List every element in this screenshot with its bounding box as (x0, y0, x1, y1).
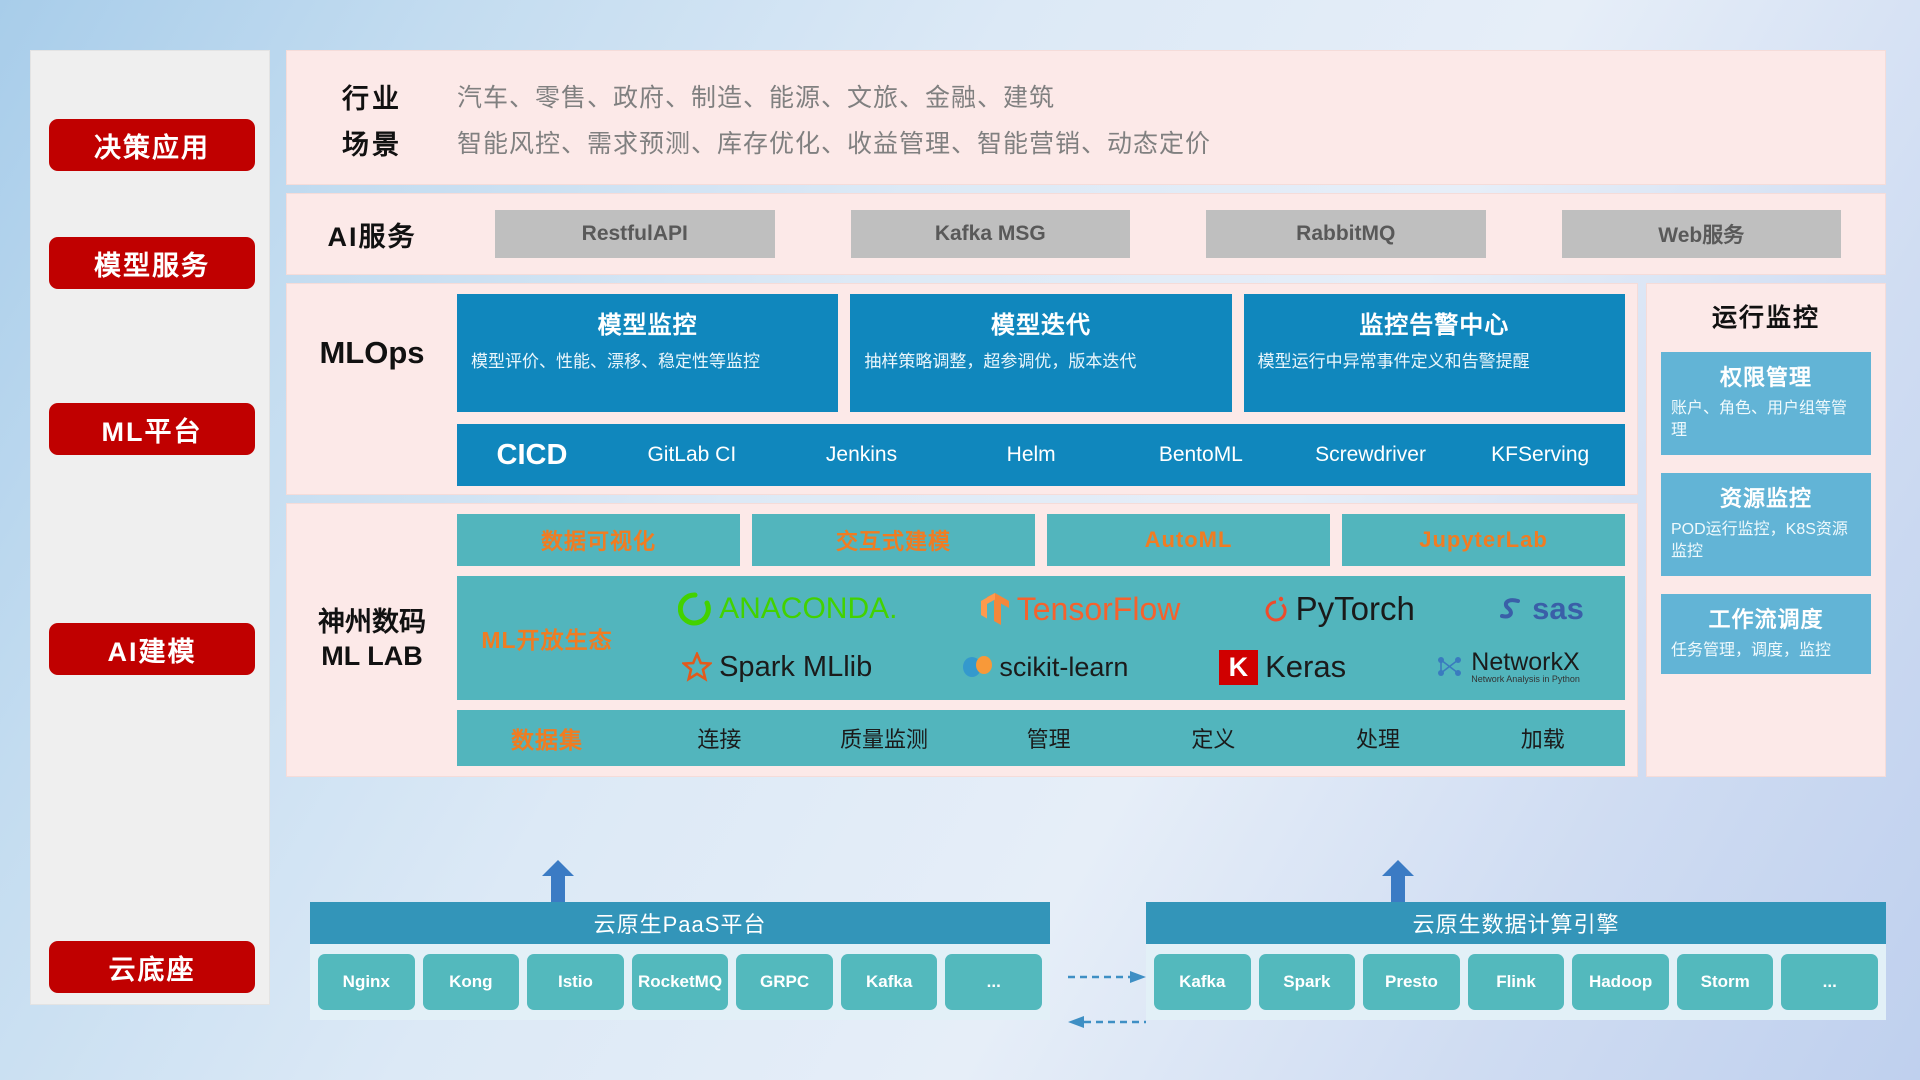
tensorflow-logo: TensorFlow (980, 591, 1181, 628)
rail-chip-decision-app[interactable]: 决策应用 (49, 119, 255, 171)
cicd-item-kfserving[interactable]: KFServing (1455, 444, 1625, 466)
ml-ecosystem-logo-row-2: Spark MLlib scikit-learn (637, 640, 1625, 694)
cloud-paas-chip-list: Nginx Kong Istio RocketMQ GRPC Kafka ... (310, 944, 1050, 1020)
mlops-card-model-monitoring[interactable]: 模型监控 模型评价、性能、漂移、稳定性等监控 (457, 294, 838, 412)
monitor-card-title: 资源监控 (1671, 481, 1861, 513)
monitor-card-resource[interactable]: 资源监控 POD运行监控，K8S资源监控 (1661, 473, 1871, 576)
cicd-item-screwdriver[interactable]: Screwdriver (1286, 444, 1456, 466)
architecture-main-column: 行业 汽车、零售、政府、制造、能源、文旅、金融、建筑 场景 智能风控、需求预测、… (286, 50, 1886, 785)
ai-service-chip-list: RestfulAPI Kafka MSG RabbitMQ Web服务 (457, 210, 1885, 258)
left-layer-rail: 决策应用 模型服务 ML平台 AI建模 云底座 (30, 50, 270, 1005)
monitor-card-permission[interactable]: 权限管理 账户、角色、用户组等管理 (1661, 352, 1871, 455)
cloud-chip-grpc[interactable]: GRPC (736, 954, 833, 1010)
cicd-item-bentoml[interactable]: BentoML (1116, 444, 1286, 466)
monitor-card-desc: POD运行监控，K8S资源监控 (1671, 519, 1861, 564)
industry-value: 汽车、零售、政府、制造、能源、文旅、金融、建筑 (457, 78, 1055, 114)
scenario-key: 场景 (287, 123, 457, 162)
cicd-item-helm[interactable]: Helm (946, 444, 1116, 466)
monitor-card-title: 工作流调度 (1671, 602, 1861, 634)
scikit-learn-logo: scikit-learn (962, 652, 1128, 683)
ml-ecosystem-logo-grid: ANACONDA. TensorFlow (637, 582, 1625, 694)
anaconda-icon (678, 592, 712, 626)
tensorflow-wordmark: TensorFlow (1017, 591, 1181, 628)
cicd-title: CICD (457, 439, 607, 472)
cicd-bar: CICD GitLab CI Jenkins Helm BentoML Scre… (457, 424, 1625, 486)
ml-lab-content: 数据可视化 交互式建模 AutoML JupyterLab ML开放生态 (457, 514, 1637, 766)
ml-lab-band: 神州数码 ML LAB 数据可视化 交互式建模 AutoML JupyterLa… (286, 503, 1638, 777)
up-arrow-to-engine-icon (1381, 860, 1415, 902)
spark-mllib-wordmark: Spark MLlib (719, 651, 872, 684)
mlops-card-desc: 模型评价、性能、漂移、稳定性等监控 (471, 350, 824, 375)
mlops-card-title: 监控告警中心 (1258, 305, 1611, 340)
left-arrow-icon (1068, 1015, 1146, 1029)
scenario-row: 场景 智能风控、需求预测、库存优化、收益管理、智能营销、动态定价 (287, 119, 1885, 165)
scikit-learn-icon (962, 654, 992, 680)
industry-scenario-band: 行业 汽车、零售、政府、制造、能源、文旅、金融、建筑 场景 智能风控、需求预测、… (286, 50, 1886, 185)
tool-chip-jupyterlab[interactable]: JupyterLab (1342, 514, 1625, 566)
mlops-band: MLOps 模型监控 模型评价、性能、漂移、稳定性等监控 模型迭代 抽样策略调整… (286, 283, 1638, 495)
cloud-chip-istio[interactable]: Istio (527, 954, 624, 1010)
tool-chip-interactive-modeling[interactable]: 交互式建模 (752, 514, 1035, 566)
mlops-card-desc: 抽样策略调整，超参调优，版本迭代 (864, 350, 1217, 375)
sas-wordmark: sas (1532, 591, 1584, 627)
pytorch-icon (1263, 593, 1289, 625)
right-arrow-icon (1068, 970, 1146, 984)
dataset-item-process[interactable]: 处理 (1296, 722, 1461, 754)
keras-wordmark: Keras (1265, 649, 1346, 685)
cicd-item-jenkins[interactable]: Jenkins (777, 444, 947, 466)
ml-lab-inner: 神州数码 ML LAB 数据可视化 交互式建模 AutoML JupyterLa… (287, 514, 1637, 766)
dataset-item-manage[interactable]: 管理 (966, 722, 1131, 754)
cloud-chip-more[interactable]: ... (945, 954, 1042, 1010)
sas-logo: sas (1497, 591, 1584, 627)
networkx-tagline: Network Analysis in Python (1471, 675, 1580, 684)
platform-and-monitor-row: MLOps 模型监控 模型评价、性能、漂移、稳定性等监控 模型迭代 抽样策略调整… (286, 283, 1886, 785)
monitor-card-title: 权限管理 (1671, 360, 1861, 392)
scenario-value: 智能风控、需求预测、库存优化、收益管理、智能营销、动态定价 (457, 124, 1211, 160)
rail-chip-label: ML平台 (102, 410, 203, 449)
cicd-item-gitlab-ci[interactable]: GitLab CI (607, 444, 777, 466)
dataset-item-quality-monitoring[interactable]: 质量监测 (802, 722, 967, 754)
spark-mllib-logo: Spark MLlib (682, 651, 872, 684)
mlops-cards-row: MLOps 模型监控 模型评价、性能、漂移、稳定性等监控 模型迭代 抽样策略调整… (287, 294, 1637, 412)
ml-lab-label: 神州数码 ML LAB (287, 514, 457, 766)
mlops-label: MLOps (287, 294, 457, 412)
networkx-icon (1436, 654, 1464, 680)
engine-chip-more[interactable]: ... (1781, 954, 1878, 1010)
engine-chip-presto[interactable]: Presto (1363, 954, 1460, 1010)
mlops-card-list: 模型监控 模型评价、性能、漂移、稳定性等监控 模型迭代 抽样策略调整，超参调优，… (457, 294, 1637, 412)
mlops-card-title: 模型迭代 (864, 305, 1217, 340)
dataset-item-define[interactable]: 定义 (1131, 722, 1296, 754)
cloud-chip-kong[interactable]: Kong (423, 954, 520, 1010)
keras-logo: K Keras (1219, 649, 1346, 685)
engine-chip-storm[interactable]: Storm (1677, 954, 1774, 1010)
cloud-base-section: 云原生PaaS平台 Nginx Kong Istio RocketMQ GRPC… (286, 880, 1886, 1045)
rail-chip-label: AI建模 (108, 630, 197, 669)
rail-chip-label: 决策应用 (94, 126, 210, 165)
sas-icon (1497, 595, 1525, 623)
ai-service-chip[interactable]: RestfulAPI (495, 210, 775, 258)
ml-lab-tool-row: 数据可视化 交互式建模 AutoML JupyterLab (457, 514, 1625, 566)
rail-chip-model-service[interactable]: 模型服务 (49, 237, 255, 289)
networkx-wordmark: NetworkX (1471, 650, 1579, 675)
cloud-engine-title: 云原生数据计算引擎 (1146, 902, 1886, 944)
rail-chip-label: 模型服务 (94, 244, 210, 283)
ai-service-chip[interactable]: Kafka MSG (851, 210, 1131, 258)
pytorch-wordmark: PyTorch (1296, 590, 1415, 628)
up-arrow-to-platform-icon (541, 860, 575, 902)
rail-chip-ai-modeling[interactable]: AI建模 (49, 623, 255, 675)
engine-chip-flink[interactable]: Flink (1468, 954, 1565, 1010)
engine-chip-kafka[interactable]: Kafka (1154, 954, 1251, 1010)
dataset-item-connect[interactable]: 连接 (637, 722, 802, 754)
monitor-card-desc: 账户、角色、用户组等管理 (1671, 398, 1861, 443)
pytorch-logo: PyTorch (1263, 590, 1415, 628)
dataset-row: 数据集 连接 质量监测 管理 定义 处理 加载 (457, 710, 1625, 766)
ai-service-band: AI服务 RestfulAPI Kafka MSG RabbitMQ Web服务 (286, 193, 1886, 275)
engine-chip-hadoop[interactable]: Hadoop (1572, 954, 1669, 1010)
ml-ecosystem-row: ML开放生态 ANACONDA. (457, 576, 1625, 700)
anaconda-logo: ANACONDA. (678, 592, 897, 626)
dataset-label: 数据集 (457, 721, 637, 755)
cloud-chip-nginx[interactable]: Nginx (318, 954, 415, 1010)
monitor-card-desc: 任务管理，调度，监控 (1671, 640, 1861, 662)
keras-icon: K (1219, 650, 1259, 685)
industry-key: 行业 (287, 77, 457, 116)
runtime-monitor-title: 运行监控 (1661, 298, 1871, 334)
tool-chip-automl[interactable]: AutoML (1047, 514, 1330, 566)
monitor-card-workflow[interactable]: 工作流调度 任务管理，调度，监控 (1661, 594, 1871, 674)
platform-column: MLOps 模型监控 模型评价、性能、漂移、稳定性等监控 模型迭代 抽样策略调整… (286, 283, 1638, 785)
dataset-item-load[interactable]: 加载 (1460, 722, 1625, 754)
tensorflow-icon (980, 591, 1010, 627)
tool-chip-data-visualization[interactable]: 数据可视化 (457, 514, 740, 566)
spark-star-icon (682, 652, 712, 682)
runtime-monitor-band: 运行监控 权限管理 账户、角色、用户组等管理 资源监控 POD运行监控，K8S资… (1646, 283, 1886, 777)
mlops-card-model-iteration[interactable]: 模型迭代 抽样策略调整，超参调优，版本迭代 (850, 294, 1231, 412)
mlops-card-title: 模型监控 (471, 305, 824, 340)
ml-lab-label-line1: 神州数码 (318, 606, 426, 640)
rail-chip-label: 云底座 (109, 948, 196, 987)
cloud-paas-title: 云原生PaaS平台 (310, 902, 1050, 944)
industry-row: 行业 汽车、零售、政府、制造、能源、文旅、金融、建筑 (287, 73, 1885, 119)
ai-service-chip[interactable]: RabbitMQ (1206, 210, 1486, 258)
anaconda-wordmark: ANACONDA. (719, 592, 897, 626)
ai-service-label: AI服务 (287, 215, 457, 254)
cloud-chip-kafka[interactable]: Kafka (841, 954, 938, 1010)
cloud-native-paas-group: 云原生PaaS平台 Nginx Kong Istio RocketMQ GRPC… (310, 902, 1050, 1020)
scikit-learn-wordmark: scikit-learn (999, 652, 1128, 683)
ml-ecosystem-label: ML开放生态 (457, 582, 637, 694)
ai-service-chip[interactable]: Web服务 (1562, 210, 1842, 258)
cloud-native-data-engine-group: 云原生数据计算引擎 Kafka Spark Presto Flink Hadoo… (1146, 902, 1886, 1020)
ml-lab-label-line2: ML LAB (321, 640, 423, 674)
rail-chip-ml-platform[interactable]: ML平台 (49, 403, 255, 455)
mlops-card-alert-center[interactable]: 监控告警中心 模型运行中异常事件定义和告警提醒 (1244, 294, 1625, 412)
engine-chip-spark[interactable]: Spark (1259, 954, 1356, 1010)
ml-ecosystem-logo-row-1: ANACONDA. TensorFlow (637, 582, 1625, 636)
cloud-engine-chip-list: Kafka Spark Presto Flink Hadoop Storm ..… (1146, 944, 1886, 1020)
networkx-logo: NetworkX Network Analysis in Python (1436, 650, 1580, 684)
mlops-card-desc: 模型运行中异常事件定义和告警提醒 (1258, 350, 1611, 375)
rail-chip-cloud-base[interactable]: 云底座 (49, 941, 255, 993)
cloud-chip-rocketmq[interactable]: RocketMQ (632, 954, 729, 1010)
